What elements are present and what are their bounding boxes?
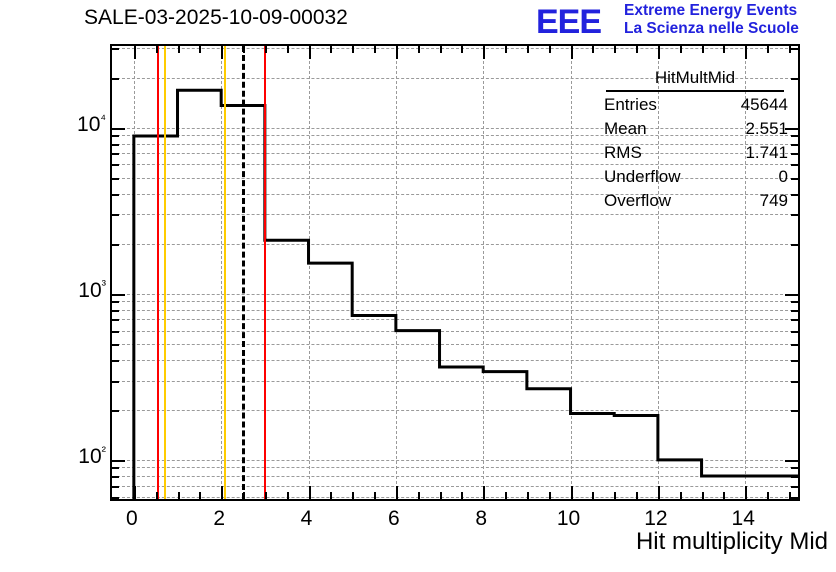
y-axis-tick: [112, 460, 125, 462]
x-axis-tick-top: [745, 46, 747, 59]
y-axis-tick-right: [791, 48, 798, 50]
stats-row-value: 45644: [741, 94, 788, 116]
x-axis-tick: [461, 492, 463, 499]
x-axis-tick-top: [680, 46, 682, 53]
y-axis-tick: [112, 410, 119, 412]
mean-dashed-line-marker: [242, 46, 245, 499]
y-axis-tick: [112, 381, 119, 383]
x-axis-tick: [265, 492, 267, 499]
y-axis-tick: [112, 153, 119, 155]
x-axis-tick: [723, 492, 725, 499]
x-axis-tick: [134, 486, 136, 499]
stats-row-key: Overflow: [604, 190, 671, 212]
y-axis-tick: [112, 360, 119, 362]
x-axis-tick: [440, 492, 442, 499]
y-axis-tick-right: [791, 467, 798, 469]
stats-divider: [606, 90, 784, 92]
y-axis-tick-right: [785, 460, 798, 462]
x-axis-tick-top: [527, 46, 529, 53]
y-axis-tick: [112, 497, 119, 499]
x-axis-tick-top: [483, 46, 485, 59]
y-axis-tick-right: [791, 344, 798, 346]
stats-box: HitMultMid Entries45644Mean2.551RMS1.741…: [592, 68, 798, 216]
x-axis-tick: [243, 492, 245, 499]
x-axis-tick: [592, 492, 594, 499]
orange-line-low-marker: [164, 46, 166, 499]
x-axis-tick-top: [418, 46, 420, 53]
x-axis-tick: [418, 492, 420, 499]
y-axis-tick: [112, 319, 119, 321]
y-axis-tick-right: [791, 310, 798, 312]
stats-row-value: 2.551: [745, 118, 788, 140]
x-axis-tick-top: [134, 46, 136, 59]
x-axis-tick-top: [789, 46, 791, 53]
stats-row-value: 1.741: [745, 142, 788, 164]
y-axis-tick-right: [791, 486, 798, 488]
x-axis-tick-top: [156, 46, 158, 53]
stats-row-key: Underflow: [604, 166, 681, 188]
stats-row: Mean2.551: [592, 118, 798, 140]
x-axis-tick: [767, 492, 769, 499]
x-axis-tick-label: 4: [282, 507, 332, 531]
x-axis-tick-top: [265, 46, 267, 53]
stats-title: HitMultMid: [592, 68, 798, 90]
x-axis-tick-top: [221, 46, 223, 59]
x-axis-tick: [789, 492, 791, 499]
x-axis-tick-top: [309, 46, 311, 59]
y-axis-tick-label: 10³: [44, 277, 106, 303]
stats-row: Underflow0: [592, 166, 798, 188]
y-axis-tick: [112, 214, 119, 216]
x-axis-tick-top: [199, 46, 201, 53]
y-axis-tick: [112, 128, 125, 130]
y-axis-tick-right: [785, 294, 798, 296]
y-axis-tick-right: [791, 244, 798, 246]
y-axis-tick: [112, 164, 119, 166]
x-axis-tick-label: 10: [544, 507, 594, 531]
stats-row-value: 0: [779, 166, 788, 188]
x-axis-tick: [352, 492, 354, 499]
y-axis-tick: [112, 331, 119, 333]
x-axis-tick-top: [440, 46, 442, 53]
x-axis-tick: [680, 492, 682, 499]
y-axis-tick: [112, 301, 119, 303]
x-axis-tick-top: [178, 46, 180, 53]
y-axis-tick-right: [791, 410, 798, 412]
x-axis-tick: [221, 486, 223, 499]
y-axis-tick: [112, 486, 119, 488]
eee-logo-line2: La Scienza nelle Scuole: [624, 20, 799, 38]
y-axis-tick: [112, 344, 119, 346]
y-axis-tick-label: 10²: [44, 443, 106, 469]
x-axis-tick: [483, 486, 485, 499]
y-axis-tick: [112, 78, 119, 80]
orange-line-high-marker: [224, 46, 226, 499]
y-axis-tick-right: [791, 301, 798, 303]
x-axis-tick-label: 6: [369, 507, 419, 531]
stats-row: RMS1.741: [592, 142, 798, 164]
x-axis-tick-top: [352, 46, 354, 53]
y-axis-tick-right: [791, 381, 798, 383]
x-axis-tick-top: [287, 46, 289, 53]
x-axis-tick: [374, 492, 376, 499]
x-axis-tick-top: [614, 46, 616, 53]
x-axis-tick-top: [702, 46, 704, 53]
y-axis-tick: [112, 48, 119, 50]
x-axis-tick: [287, 492, 289, 499]
y-axis-tick: [112, 144, 119, 146]
x-axis-tick-top: [636, 46, 638, 53]
red-line-low-marker: [157, 46, 159, 499]
eee-logo-line1: Extreme Energy Events: [624, 2, 797, 20]
y-axis-tick-right: [791, 360, 798, 362]
x-axis-tick: [527, 492, 529, 499]
x-axis-tick: [549, 492, 551, 499]
x-axis-tick: [636, 492, 638, 499]
x-axis-tick: [156, 492, 158, 499]
y-axis-tick-right: [791, 319, 798, 321]
x-axis-tick: [178, 492, 180, 499]
y-axis-tick: [112, 178, 119, 180]
eee-logo: EEE Extreme Energy Events La Scienza nel…: [534, 2, 830, 44]
stats-row: Overflow749: [592, 190, 798, 212]
red-line-high-marker: [264, 46, 266, 499]
x-axis-tick-top: [571, 46, 573, 59]
x-axis-tick-top: [723, 46, 725, 53]
x-axis-tick: [702, 492, 704, 499]
x-axis-tick-label: 2: [194, 507, 244, 531]
y-axis-tick-label: 10⁴: [44, 111, 106, 137]
eee-logo-mark: EEE: [536, 3, 601, 41]
y-axis-tick: [112, 310, 119, 312]
stats-row-key: Mean: [604, 118, 647, 140]
stats-row: Entries45644: [592, 94, 798, 116]
x-axis-tick-top: [396, 46, 398, 59]
y-axis-tick: [112, 135, 119, 137]
y-axis-tick: [112, 476, 119, 478]
chart-canvas: SALE-03-2025-10-09-00032 EEE Extreme Ene…: [0, 0, 836, 572]
x-axis-tick-label: 0: [107, 507, 157, 531]
x-axis-tick-top: [243, 46, 245, 53]
y-axis-tick-right: [791, 331, 798, 333]
x-axis-tick-top: [330, 46, 332, 53]
x-axis-tick-top: [505, 46, 507, 53]
x-axis-tick-top: [374, 46, 376, 53]
x-axis-title: Hit multiplicity Mid: [636, 528, 828, 556]
x-axis-tick-top: [549, 46, 551, 53]
x-axis-tick-top: [767, 46, 769, 53]
stats-row-key: Entries: [604, 94, 657, 116]
x-axis-tick: [614, 492, 616, 499]
x-axis-tick-top: [461, 46, 463, 53]
x-axis-tick: [745, 486, 747, 499]
page-title: SALE-03-2025-10-09-00032: [84, 6, 348, 30]
stats-row-value: 749: [760, 190, 788, 212]
y-axis-tick-right: [791, 476, 798, 478]
x-axis-tick: [199, 492, 201, 499]
x-axis-tick: [505, 492, 507, 499]
x-axis-tick: [330, 492, 332, 499]
x-axis-tick-top: [658, 46, 660, 59]
x-axis-tick: [396, 486, 398, 499]
y-axis-tick: [112, 467, 119, 469]
y-axis-tick-right: [791, 497, 798, 499]
stats-row-key: RMS: [604, 142, 642, 164]
x-axis-tick-top: [592, 46, 594, 53]
y-axis-tick: [112, 194, 119, 196]
x-axis-tick-label: 8: [456, 507, 506, 531]
x-axis-tick: [309, 486, 311, 499]
x-axis-tick: [658, 486, 660, 499]
x-axis-tick: [571, 486, 573, 499]
y-axis-tick: [112, 244, 119, 246]
y-axis-tick: [112, 294, 125, 296]
